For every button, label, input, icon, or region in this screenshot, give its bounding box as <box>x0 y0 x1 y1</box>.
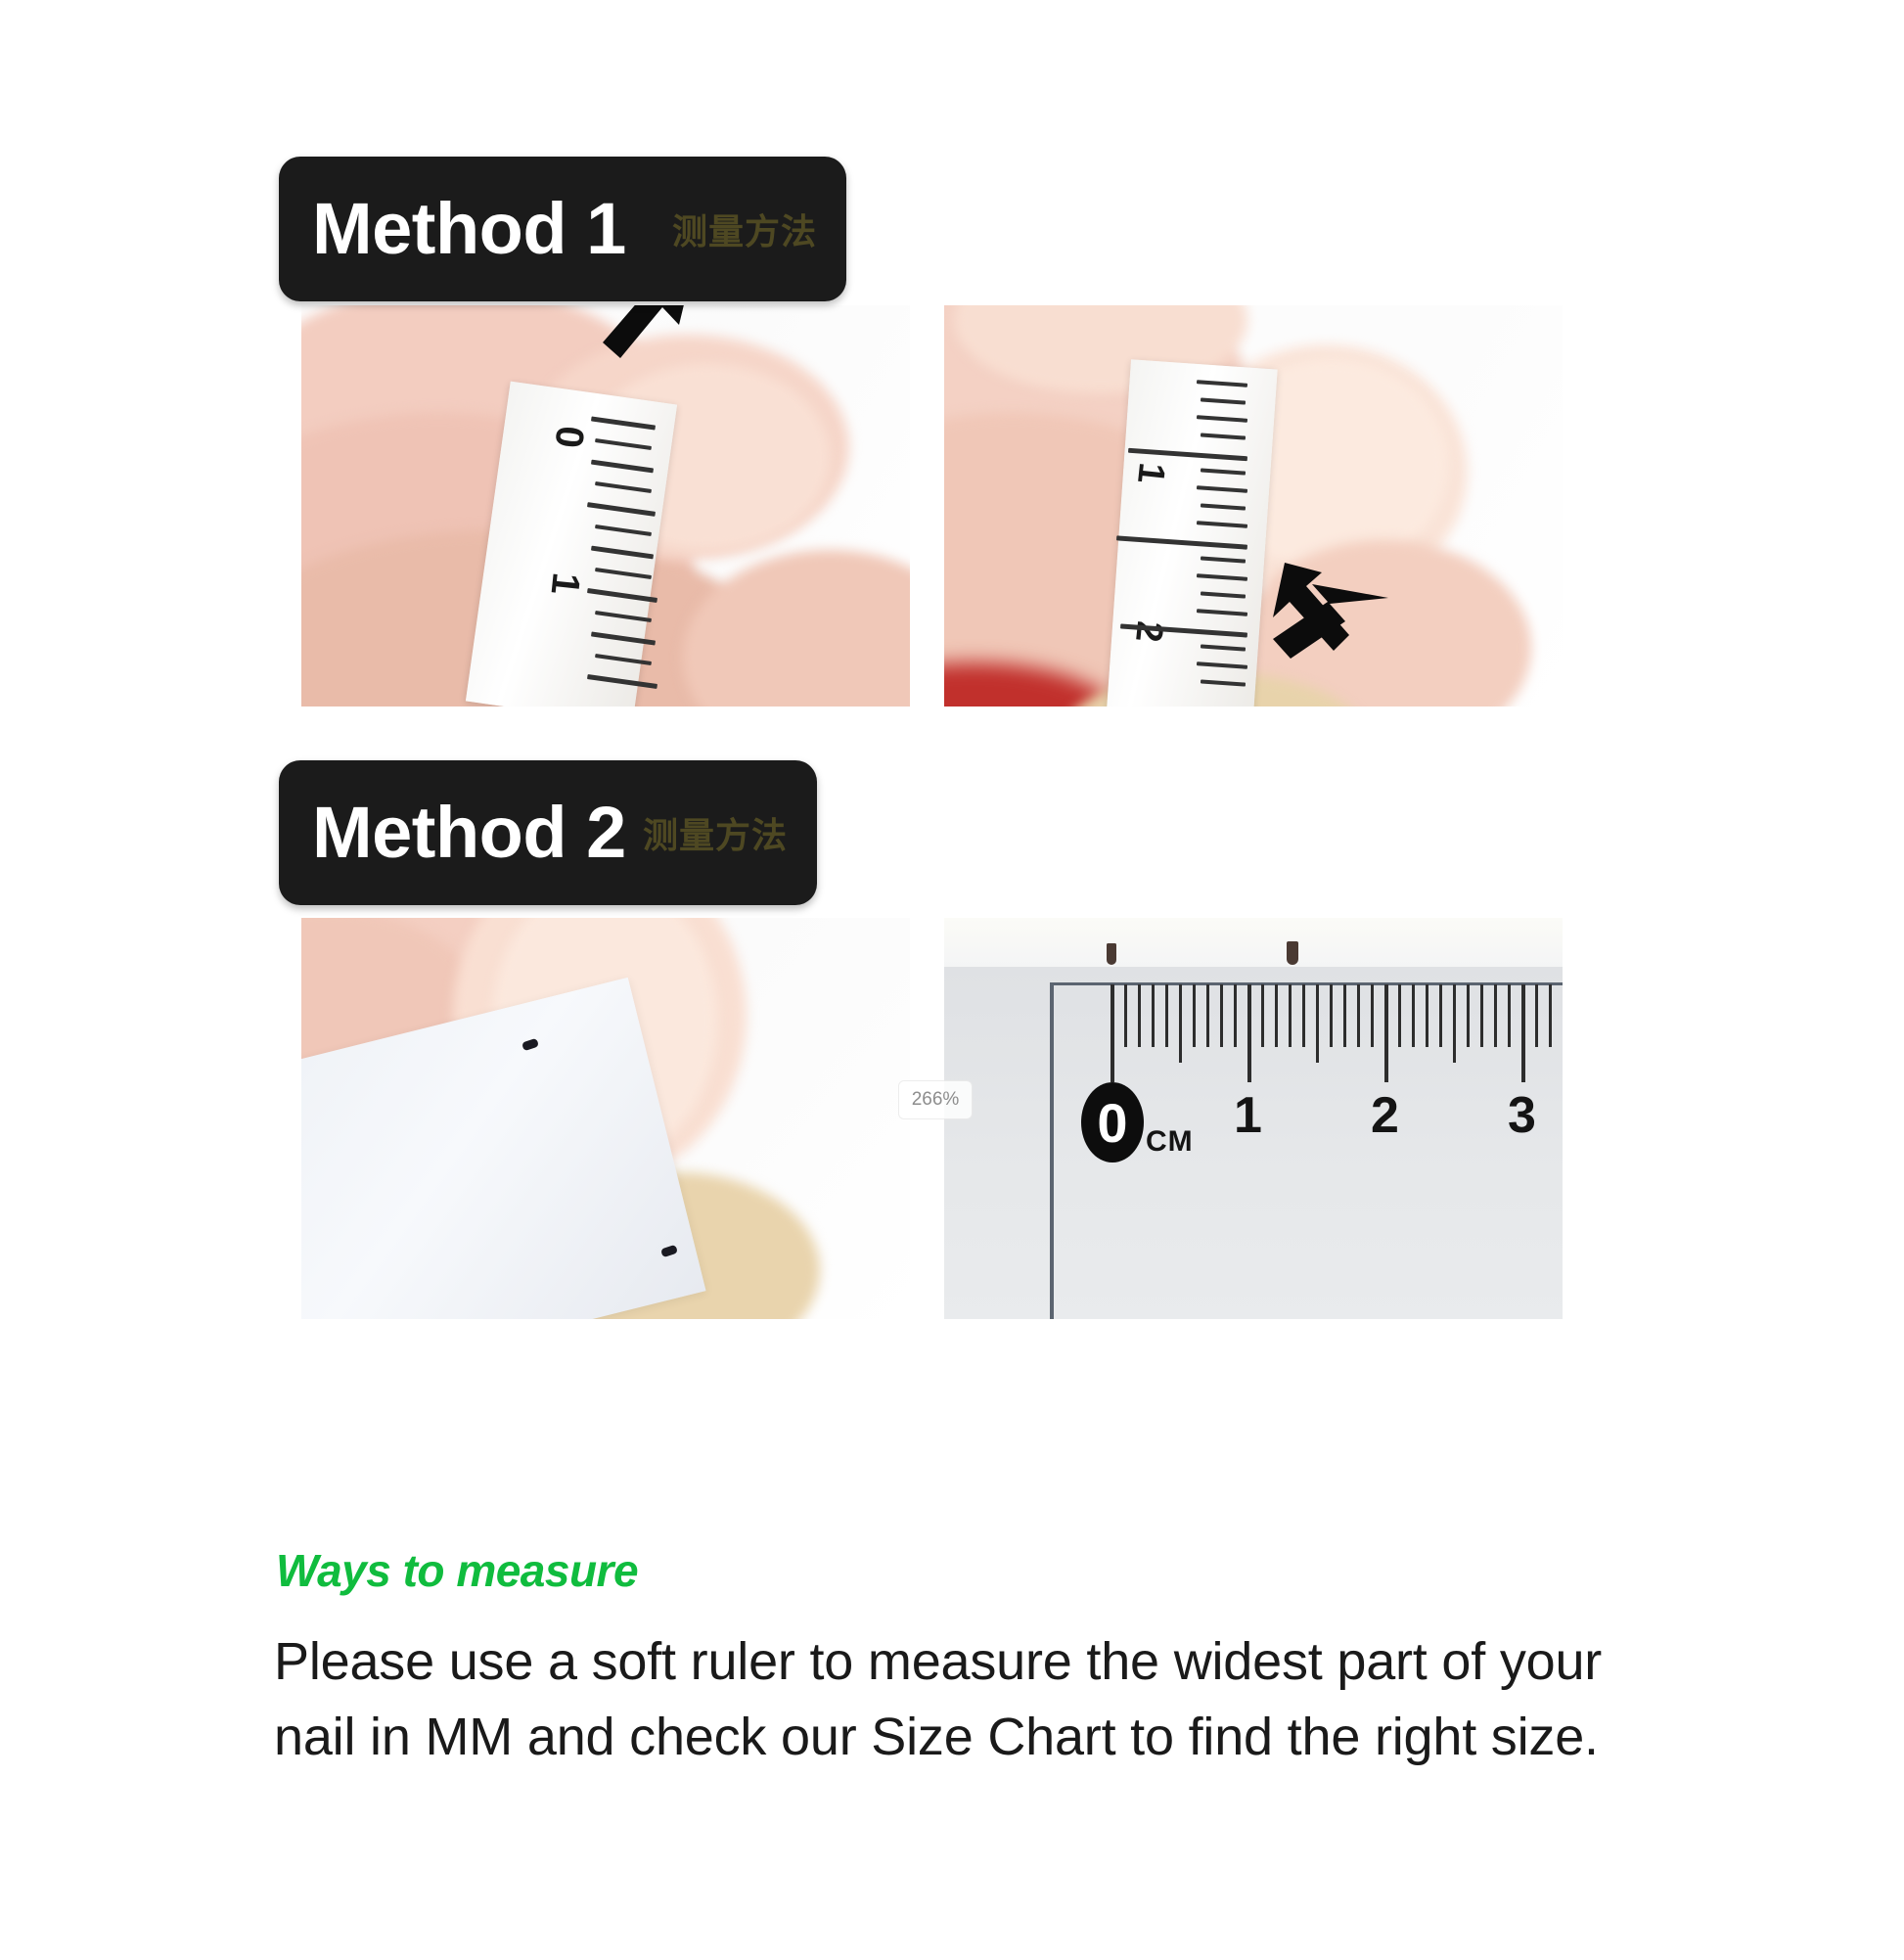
method-1-badge: Method 1 测量方法 <box>279 157 846 301</box>
measure-instructions-paragraph: Please use a soft ruler to measure the w… <box>274 1624 1663 1774</box>
ruler-unit-label: CM <box>1146 1125 1194 1159</box>
tape-number-0: 0 <box>546 424 592 450</box>
finger-shape <box>683 550 910 707</box>
photo-method1-step1: 0 1 <box>301 305 910 707</box>
ruler-label-1: 1 <box>1234 1086 1262 1145</box>
ruler-pin <box>1107 943 1116 965</box>
ways-to-measure-heading: Ways to measure <box>276 1544 638 1597</box>
method-2-ghost-text: 测量方法 <box>643 818 788 853</box>
size-guide-page: Method 1 测量方法 0 1 <box>0 0 1904 1960</box>
zoom-level-value: 266% <box>912 1089 960 1111</box>
photo-method2-step1-content <box>301 918 910 1319</box>
pointer-arrow-icon <box>564 305 710 411</box>
ruler-label-3: 3 <box>1508 1086 1536 1145</box>
method-1-ghost-text: 测量方法 <box>672 214 817 250</box>
photo-method2-step1 <box>301 918 910 1319</box>
pointer-arrow-icon <box>1267 555 1424 707</box>
tape-number-1: 1 <box>542 570 588 597</box>
photo-method2-step2: 0 CM 1 2 3 <box>944 918 1563 1319</box>
method-2-badge: Method 2 测量方法 <box>279 760 817 905</box>
photo-method1-step1-content: 0 1 <box>301 305 910 707</box>
zoom-level-badge[interactable]: 266% <box>898 1080 973 1119</box>
ruler-zero-label: 0 <box>1081 1082 1144 1162</box>
tape-number-1: 1 <box>1128 461 1172 486</box>
photo-method1-step2-content: 1 2 <box>944 305 1563 707</box>
ruler-pin <box>1287 941 1298 965</box>
ruler-left-edge <box>1050 982 1054 1319</box>
ruler-label-2: 2 <box>1371 1086 1399 1145</box>
method-1-label: Method 1 <box>312 193 626 265</box>
method-2-label: Method 2 <box>312 797 626 869</box>
soft-tape-measure <box>1106 359 1277 707</box>
photo-method1-step2: 1 2 <box>944 305 1563 707</box>
ruler-photo-content: 0 CM 1 2 3 <box>944 918 1563 1319</box>
